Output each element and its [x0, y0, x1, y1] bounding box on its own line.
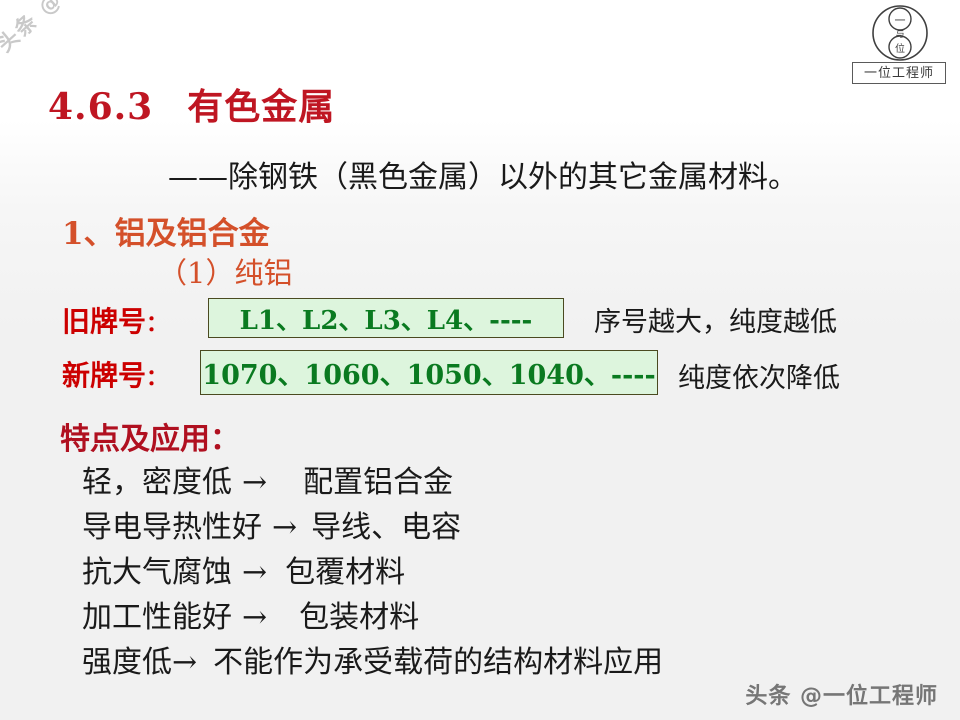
logo-char-middle: 与 [895, 29, 904, 40]
logo-mark-icon: 一 与 位 [852, 4, 948, 64]
new-grade-value-box: 1070、1060、1050、1040、---- [200, 350, 658, 395]
features-list: 轻，密度低→配置铝合金 导电导热性好→导线、电容 抗大气腐蚀→包覆材料 加工性能… [82, 460, 942, 685]
feature-effect: 配置铝合金 [303, 460, 453, 505]
feature-effect: 导线、电容 [311, 505, 461, 550]
old-grade-label-colon: ： [146, 311, 168, 337]
feature-line: 加工性能好→包装材料 [82, 595, 942, 640]
arrow-icon: → [232, 595, 277, 640]
new-grade-note: 纯度依次降低 [678, 356, 840, 395]
new-grade-label-colon: ： [146, 365, 168, 391]
feature-line: 导电导热性好→导线、电容 [82, 505, 942, 550]
features-heading: 特点及应用： [60, 414, 240, 458]
page-subtitle: ——除钢铁（黑色金属）以外的其它金属材料。 [168, 152, 798, 196]
arrow-icon: → [232, 460, 277, 505]
logo-caption: 一位工程师 [852, 62, 946, 84]
page-title-number: 4.6.3 [48, 86, 153, 128]
arrow-icon: → [232, 550, 277, 595]
sub-heading: （1）纯铝 [158, 250, 292, 292]
watermark-top-left: 头条 @一位工程师 [0, 0, 203, 58]
old-grade-label-text: 旧牌号 [62, 305, 146, 338]
page-title-text: 有色金属 [187, 86, 335, 128]
feature-cause: 强度低 [82, 640, 172, 685]
feature-cause: 抗大气腐蚀 [82, 550, 232, 595]
logo-char-bottom: 位 [895, 42, 905, 55]
feature-cause: 加工性能好 [82, 595, 232, 640]
feature-effect: 包装材料 [299, 595, 419, 640]
brand-logo: 一 与 位 一位工程师 [852, 4, 948, 86]
feature-effect: 包覆材料 [285, 550, 405, 595]
slide-canvas: 头条 @一位工程师 一 与 位 一位工程师 4.6.3有色金属 ——除钢铁（黑色… [0, 0, 960, 720]
feature-cause: 轻，密度低 [82, 460, 232, 505]
feature-line: 轻，密度低→配置铝合金 [82, 460, 942, 505]
new-grade-label-text: 新牌号 [62, 359, 146, 392]
arrow-icon: → [262, 505, 307, 550]
arrow-icon: → [172, 640, 199, 685]
page-title: 4.6.3有色金属 [48, 78, 335, 130]
feature-cause: 导电导热性好 [82, 505, 262, 550]
section-heading: 1、铝及铝合金 [62, 208, 270, 253]
old-grade-value-box: L1、L2、L3、L4、---- [208, 298, 564, 338]
feature-effect: 不能作为承受载荷的结构材料应用 [213, 640, 663, 685]
old-grade-label: 旧牌号： [62, 300, 168, 340]
logo-char-top: 一 [895, 14, 906, 27]
feature-line: 抗大气腐蚀→包覆材料 [82, 550, 942, 595]
feature-line: 强度低→不能作为承受载荷的结构材料应用 [82, 640, 942, 685]
new-grade-label: 新牌号： [62, 354, 168, 394]
old-grade-note: 序号越大，纯度越低 [594, 300, 837, 339]
